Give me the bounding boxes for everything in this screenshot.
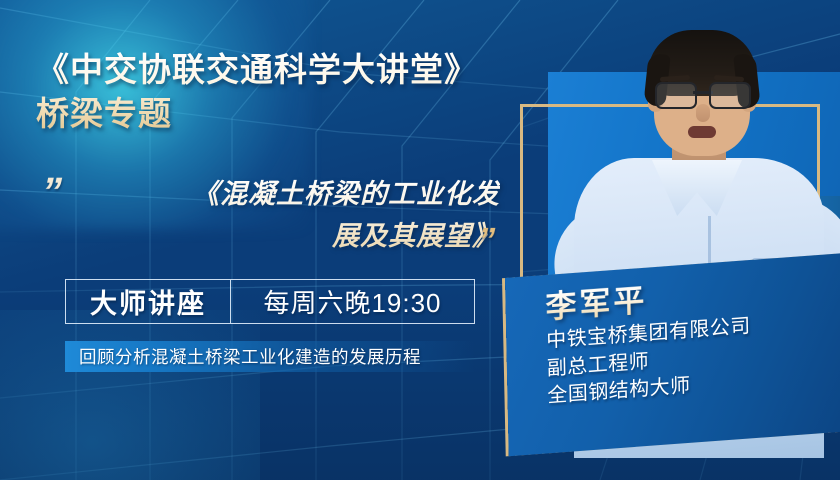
lecture-time: 每周六晚19:30: [231, 280, 474, 323]
description-text: 回顾分析混凝土桥梁工业化建造的发展历程: [65, 344, 421, 369]
speaker-info-content: 李军平 中铁宝桥集团有限公司 副总工程师 全国钢结构大师: [545, 269, 840, 411]
blue-glow-bottom-left: [0, 310, 260, 480]
portrait-mouth: [688, 126, 716, 138]
lecture-poster: 《中交协联交通科学大讲堂》 桥梁专题 ” 《混凝土桥梁的工业化发 展及其展望》 …: [0, 0, 840, 480]
lecture-label: 大师讲座: [66, 280, 231, 323]
speaker-info-panel: 李军平 中铁宝桥集团有限公司 副总工程师 全国钢结构大师: [505, 253, 840, 456]
page-title: 《中交协联交通科学大讲堂》 桥梁专题: [36, 48, 556, 136]
lecture-schedule-box: 大师讲座 每周六晚19:30: [65, 279, 475, 324]
portrait-nose: [696, 104, 710, 122]
glasses-bridge: [693, 91, 713, 94]
glasses-icon: [655, 82, 751, 106]
lecture-subtitle: 《混凝土桥梁的工业化发 展及其展望》: [80, 174, 500, 258]
description-bar: 回顾分析混凝土桥梁工业化建造的发展历程: [65, 341, 475, 372]
